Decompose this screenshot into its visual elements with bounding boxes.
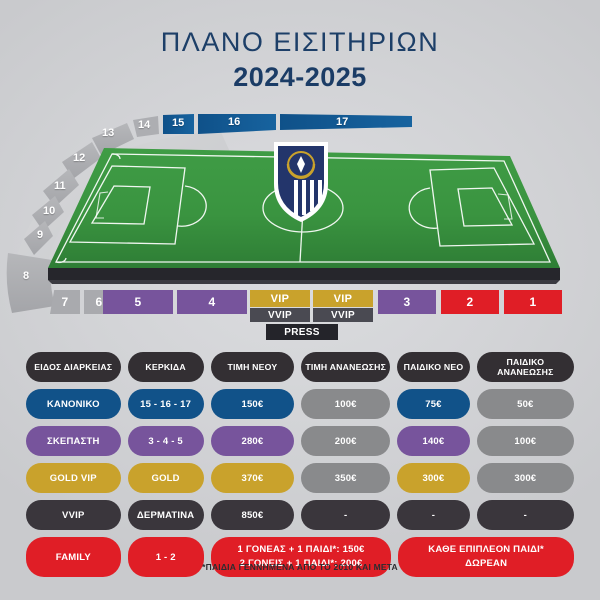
row-kanoniko-stand: 15 - 16 - 17 xyxy=(128,389,204,419)
row-goldvip-new-price: 370€ xyxy=(211,463,295,493)
stand-segment-16[interactable] xyxy=(198,114,276,134)
stand-segment-17[interactable] xyxy=(280,114,412,130)
title-season-text: 2024-2025 xyxy=(0,62,600,93)
row-family-extra-line-1: ΚΑΘΕ ΕΠΙΠΛΕΟΝ ΠΑΙΔΙ* xyxy=(428,543,544,557)
table-row: VVIP ΔΕΡΜΑΤΙΝΑ 850€ - - - xyxy=(26,500,574,530)
header-cell-stand: ΚΕΡΚΙΔΑ xyxy=(128,352,204,382)
row-kanoniko-renewal-price: 100€ xyxy=(301,389,390,419)
row-goldvip-type: GOLD VIP xyxy=(26,463,121,493)
row-goldvip-child-new: 300€ xyxy=(397,463,469,493)
stand-block-vvip-left-label: VVIP xyxy=(268,310,292,321)
row-kanoniko-child-new: 75€ xyxy=(397,389,469,419)
row-skepasti-type: ΣΚΕΠΑΣΤΗ xyxy=(26,426,121,456)
stand-segment-14[interactable] xyxy=(133,116,159,137)
row-kanoniko-type: ΚΑΝΟΝΙΚΟ xyxy=(26,389,121,419)
stand-block-3-label: 3 xyxy=(404,295,411,309)
stand-block-vip-right-label: VIP xyxy=(334,293,353,305)
row-vvip-child-new: - xyxy=(397,500,469,530)
row-goldvip-renewal-price: 350€ xyxy=(301,463,390,493)
stand-block-7-label: 7 xyxy=(62,295,69,309)
row-skepasti-stand: 3 - 4 - 5 xyxy=(128,426,204,456)
table-header-row: ΕΙΔΟΣ ΔΙΑΡΚΕΙΑΣ ΚΕΡΚΙΔΑ ΤΙΜΗ ΝΕΟΥ ΤΙΜΗ Α… xyxy=(26,352,574,382)
row-goldvip-stand: GOLD xyxy=(128,463,204,493)
stand-block-vvip-right-label: VVIP xyxy=(331,310,355,321)
stand-block-4-label: 4 xyxy=(209,295,216,309)
stand-block-1-label: 1 xyxy=(530,295,537,309)
header-cell-child-new: ΠΑΙΔΙΚΟ ΝΕΟ xyxy=(397,352,469,382)
stand-block-2-label: 2 xyxy=(467,295,474,309)
stand-block-6-label: 6 xyxy=(96,295,103,309)
row-kanoniko-child-renewal: 50€ xyxy=(477,389,574,419)
header-cell-type: ΕΙΔΟΣ ΔΙΑΡΚΕΙΑΣ xyxy=(26,352,121,382)
row-vvip-new-price: 850€ xyxy=(211,500,295,530)
row-kanoniko-new-price: 150€ xyxy=(211,389,295,419)
bottom-stand-group: 7 6 5 4 VIP VVIP VIP VVIP 3 2 1 PRESS xyxy=(0,283,600,333)
row-vvip-child-renewal: - xyxy=(477,500,574,530)
footnote: *ΠΑΙΔΙΑ ΓΕΝΝΗΜΕΝΑ ΑΠΟ ΤΟ 2010 ΚΑΙ ΜΕΤΑ xyxy=(0,562,600,572)
press-block-label: PRESS xyxy=(284,327,319,338)
row-family-price-line-1: 1 ΓΟΝΕΑΣ + 1 ΠΑΙΔΙ*: 150€ xyxy=(238,543,365,557)
stand-block-vvip-right[interactable]: VVIP xyxy=(313,308,373,322)
row-vvip-renewal-price: - xyxy=(301,500,390,530)
stand-block-5-label: 5 xyxy=(135,295,142,309)
header-cell-new-price: ΤΙΜΗ ΝΕΟΥ xyxy=(211,352,295,382)
table-row: ΚΑΝΟΝΙΚΟ 15 - 16 - 17 150€ 100€ 75€ 50€ xyxy=(26,389,574,419)
row-skepasti-new-price: 280€ xyxy=(211,426,295,456)
header-cell-renewal-price: ΤΙΜΗ ΑΝΑΝΕΩΣΗΣ xyxy=(301,352,390,382)
row-skepasti-child-new: 140€ xyxy=(397,426,469,456)
stand-block-4[interactable]: 4 xyxy=(177,290,247,314)
stand-block-1[interactable]: 1 xyxy=(504,290,562,314)
title-main-text: ΠΛΑΝΟ ΕΙΣΙΤΗΡΙΩΝ xyxy=(0,28,600,56)
page-title: ΠΛΑΝΟ ΕΙΣΙΤΗΡΙΩΝ 2024-2025 xyxy=(0,0,600,93)
table-row: ΣΚΕΠΑΣΤΗ 3 - 4 - 5 280€ 200€ 140€ 100€ xyxy=(26,426,574,456)
stand-segment-15[interactable] xyxy=(163,114,194,134)
stand-block-7[interactable]: 7 xyxy=(50,290,80,314)
stand-block-vip-left[interactable]: VIP xyxy=(250,290,310,307)
row-skepasti-child-renewal: 100€ xyxy=(477,426,574,456)
row-vvip-type: VVIP xyxy=(26,500,121,530)
row-skepasti-renewal-price: 200€ xyxy=(301,426,390,456)
stand-block-vip-right[interactable]: VIP xyxy=(313,290,373,307)
pricing-table: ΕΙΔΟΣ ΔΙΑΡΚΕΙΑΣ ΚΕΡΚΙΔΑ ΤΙΜΗ ΝΕΟΥ ΤΙΜΗ Α… xyxy=(26,352,574,584)
stand-block-3[interactable]: 3 xyxy=(378,290,436,314)
stand-block-vip-left-label: VIP xyxy=(271,293,290,305)
press-block[interactable]: PRESS xyxy=(266,324,338,340)
stand-block-5[interactable]: 5 xyxy=(103,290,173,314)
row-goldvip-child-renewal: 300€ xyxy=(477,463,574,493)
stand-block-2[interactable]: 2 xyxy=(441,290,499,314)
row-vvip-stand: ΔΕΡΜΑΤΙΝΑ xyxy=(128,500,204,530)
table-row: GOLD VIP GOLD 370€ 350€ 300€ 300€ xyxy=(26,463,574,493)
stand-block-vvip-left[interactable]: VVIP xyxy=(250,308,310,322)
header-cell-child-renewal: ΠΑΙΔΙΚΟ ΑΝΑΝΕΩΣΗΣ xyxy=(477,352,574,382)
